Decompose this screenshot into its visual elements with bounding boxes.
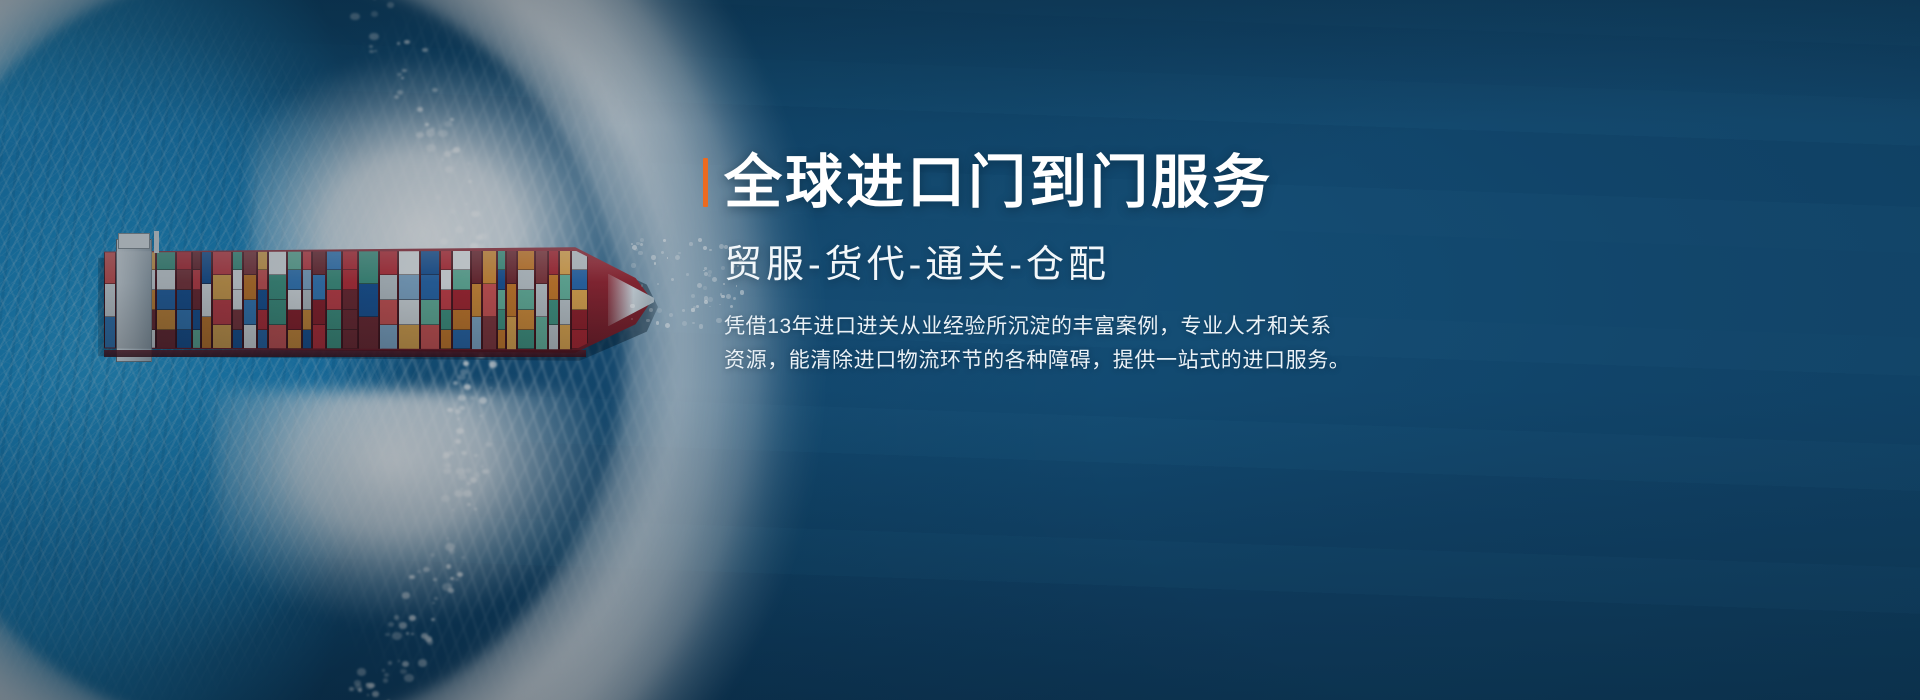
banner-subheadline: 贸服-货代-通关-仓配 bbox=[724, 245, 1463, 287]
headline-row: 全球进口门到门服务 bbox=[703, 152, 1463, 215]
banner-description: 凭借13年进口进关从业经验所沉淀的丰富案例，专业人才和关系 资源，能清除进口物流… bbox=[724, 310, 1424, 378]
description-line-2: 资源，能清除进口物流环节的各种障碍，提供一站式的进口服务。 bbox=[724, 344, 1424, 378]
hero-banner: 全球进口门到门服务 贸服-货代-通关-仓配 凭借13年进口进关从业经验所沉淀的丰… bbox=[0, 0, 1920, 700]
banner-copy: 全球进口门到门服务 贸服-货代-通关-仓配 凭借13年进口进关从业经验所沉淀的丰… bbox=[703, 152, 1463, 378]
accent-bar bbox=[703, 158, 708, 207]
description-line-1: 凭借13年进口进关从业经验所沉淀的丰富案例，专业人才和关系 bbox=[724, 310, 1424, 344]
banner-headline: 全球进口门到门服务 bbox=[724, 152, 1273, 215]
